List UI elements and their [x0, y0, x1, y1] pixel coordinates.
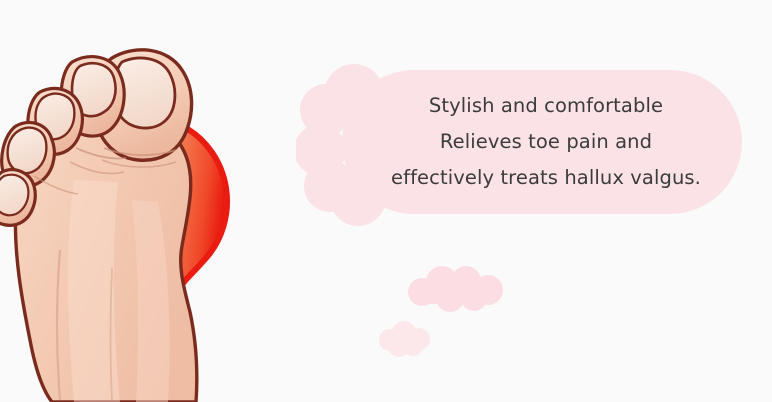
bubble-line-3: effectively treats hallux valgus.: [352, 160, 740, 196]
cloud-puff-small: [372, 318, 436, 358]
product-feature-banner: Stylish and comfortable Relieves toe pai…: [0, 0, 772, 402]
bubble-line-2: Relieves toe pain and: [352, 124, 740, 160]
thought-bubble-text: Stylish and comfortable Relieves toe pai…: [352, 88, 740, 196]
fourth-toenail: [8, 128, 47, 174]
bubble-line-1: Stylish and comfortable: [352, 88, 740, 124]
foot-with-bunion-illustration: [0, 0, 300, 402]
cloud-puff-large: [400, 266, 508, 312]
